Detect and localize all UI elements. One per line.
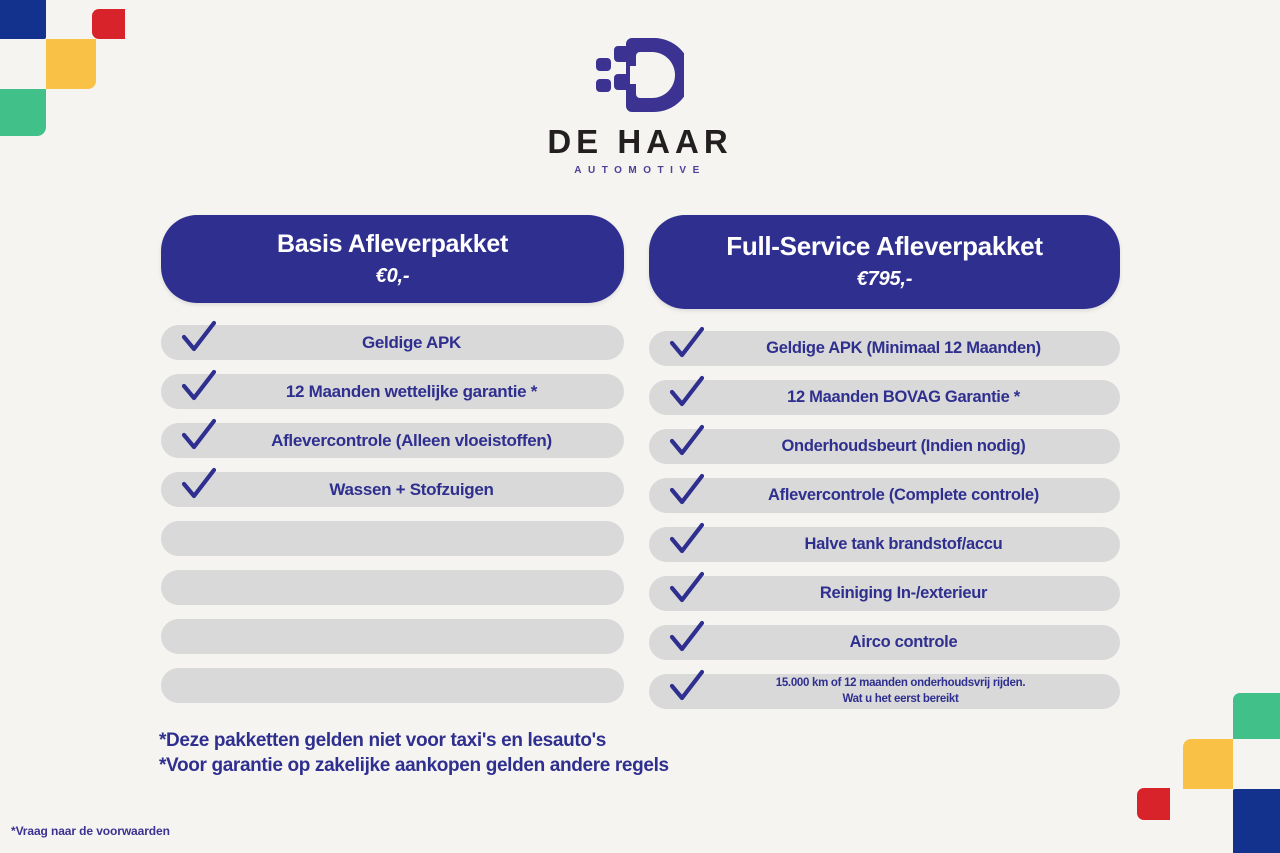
feature-label: Geldige APK (Minimaal 12 Maanden)	[710, 340, 1059, 357]
feature-label: Onderhoudsbeurt (Indien nodig)	[726, 438, 1044, 455]
feature-label: Wassen + Stofzuigen	[273, 481, 511, 499]
feature-row: Onderhoudsbeurt (Indien nodig)	[649, 429, 1120, 464]
check-icon	[665, 322, 709, 366]
feature-row	[161, 570, 624, 605]
de-haar-monogram-icon	[596, 38, 684, 112]
feature-label: Airco controle	[794, 634, 976, 651]
feature-row: 12 Maanden BOVAG Garantie *	[649, 380, 1120, 415]
feature-label: Aflevercontrole (Complete controle)	[712, 487, 1057, 504]
feature-label: 15.000 km of 12 maanden onderhoudsvrij r…	[724, 676, 1046, 707]
check-icon	[665, 371, 709, 415]
feature-row: 15.000 km of 12 maanden onderhoudsvrij r…	[649, 674, 1120, 709]
feature-row: Aflevercontrole (Alleen vloeistoffen)	[161, 423, 624, 458]
check-icon	[177, 463, 221, 507]
package-header-full-service[interactable]: Full-Service Afleverpakket €795,-	[649, 215, 1120, 309]
feature-label: 12 Maanden wettelijke garantie *	[230, 383, 555, 401]
decoration-square-red-bottom-right	[1137, 788, 1170, 820]
disclaimer-notes: *Deze pakketten gelden niet voor taxi's …	[159, 728, 669, 778]
fineprint-note: *Vraag naar de voorwaarden	[11, 824, 170, 838]
check-icon	[177, 365, 221, 409]
feature-row	[161, 668, 624, 703]
feature-row: Wassen + Stofzuigen	[161, 472, 624, 507]
brand-name: DE HAAR	[547, 125, 732, 158]
check-icon	[665, 567, 709, 611]
disclaimer-line-1: *Deze pakketten gelden niet voor taxi's …	[159, 728, 669, 753]
brand-tagline: AUTOMOTIVE	[574, 166, 705, 176]
package-column-basis: Basis Afleverpakket €0,- Geldige APK12 M…	[161, 215, 624, 717]
feature-list-basis: Geldige APK12 Maanden wettelijke garanti…	[161, 325, 624, 703]
package-column-full-service: Full-Service Afleverpakket €795,- Geldig…	[649, 215, 1120, 723]
feature-label: Halve tank brandstof/accu	[749, 536, 1021, 553]
disclaimer-line-2: *Voor garantie op zakelijke aankopen gel…	[159, 753, 669, 778]
check-icon	[177, 316, 221, 360]
feature-label: Geldige APK	[306, 334, 479, 352]
package-title: Basis Afleverpakket	[171, 229, 614, 259]
feature-row: Reiniging In-/exterieur	[649, 576, 1120, 611]
package-header-basis[interactable]: Basis Afleverpakket €0,-	[161, 215, 624, 303]
feature-row: 12 Maanden wettelijke garantie *	[161, 374, 624, 409]
package-price: €795,-	[659, 268, 1110, 291]
decoration-square-blue-top-left	[0, 0, 46, 39]
decoration-square-green-bottom-right	[1233, 693, 1280, 739]
feature-row	[161, 521, 624, 556]
check-icon	[665, 518, 709, 562]
feature-row: Geldige APK	[161, 325, 624, 360]
check-icon	[665, 616, 709, 660]
feature-label: Aflevercontrole (Alleen vloeistoffen)	[215, 432, 570, 450]
feature-row	[161, 619, 624, 654]
brand-logo: DE HAAR AUTOMOTIVE	[0, 38, 1280, 176]
feature-label: 12 Maanden BOVAG Garantie *	[731, 389, 1038, 406]
package-title: Full-Service Afleverpakket	[659, 231, 1110, 262]
feature-row: Aflevercontrole (Complete controle)	[649, 478, 1120, 513]
feature-label: Reiniging In-/exterieur	[764, 585, 1005, 602]
feature-row: Halve tank brandstof/accu	[649, 527, 1120, 562]
check-icon	[665, 469, 709, 513]
package-price: €0,-	[171, 265, 614, 288]
feature-row: Airco controle	[649, 625, 1120, 660]
check-icon	[665, 665, 709, 709]
decoration-square-blue-bottom-right	[1233, 789, 1280, 853]
feature-row: Geldige APK (Minimaal 12 Maanden)	[649, 331, 1120, 366]
feature-list-full-service: Geldige APK (Minimaal 12 Maanden)12 Maan…	[649, 331, 1120, 709]
decoration-square-yellow-bottom-right	[1183, 739, 1233, 789]
decoration-square-red-top-left	[92, 9, 125, 39]
check-icon	[665, 420, 709, 464]
